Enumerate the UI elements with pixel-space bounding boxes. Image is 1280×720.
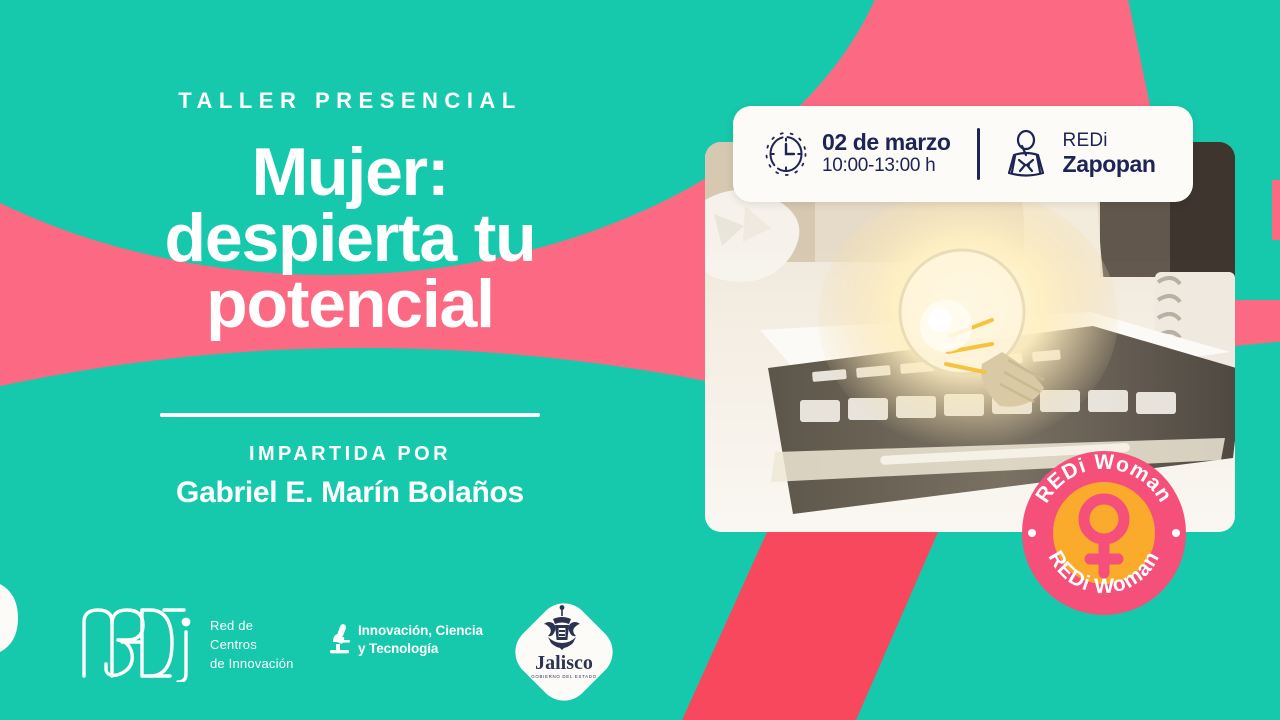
logo-row: Red de Centros de Innovación Innovación,… xyxy=(0,590,700,720)
promo-poster: TALLER PRESENCIAL Mujer: despierta tu po… xyxy=(0,0,1280,720)
title-line-1: Mujer: xyxy=(0,140,700,206)
event-info-card: 02 de marzo 10:00-13:00 h REDi xyxy=(733,106,1193,202)
redi-tagline-line-2: Centros xyxy=(210,636,294,655)
location-brand: REDi xyxy=(1063,130,1156,152)
title-line-2: despierta tu xyxy=(0,206,700,272)
location-block: REDi Zapopan xyxy=(980,129,1156,179)
jalisco-subtitle: GOBIERNO DEL ESTADO xyxy=(531,674,597,679)
ict-line-2: y Tecnología xyxy=(358,640,483,658)
jalisco-wordmark: Jalisco xyxy=(535,652,593,674)
date-time-block: 02 de marzo 10:00-13:00 h xyxy=(733,130,951,179)
jalisco-logo: Jalisco GOBIERNO DEL ESTADO xyxy=(512,593,616,711)
redi-logo-tagline: Red de Centros de Innovación xyxy=(210,617,294,674)
event-time: 10:00-13:00 h xyxy=(822,155,951,178)
presenter-label: IMPARTIDA POR xyxy=(0,443,700,466)
date-time-text: 02 de marzo 10:00-13:00 h xyxy=(822,130,951,179)
redi-woman-badge: REDi Woman REDi Woman xyxy=(1018,447,1190,619)
page-title: Mujer: despierta tu potencial xyxy=(0,140,700,338)
ict-logo-text: Innovación, Ciencia y Tecnología xyxy=(358,622,483,657)
location-text: REDi Zapopan xyxy=(1063,130,1156,178)
event-date: 02 de marzo xyxy=(822,130,951,156)
title-line-3: potencial xyxy=(0,272,700,338)
redi-tagline-line-1: Red de xyxy=(210,617,294,636)
kicker-label: TALLER PRESENCIAL xyxy=(0,88,700,114)
clock-icon xyxy=(763,130,809,178)
redi-tagline-line-3: de Innovación xyxy=(210,655,294,674)
presenter-name: Gabriel E. Marín Bolaños xyxy=(0,476,700,510)
title-underline xyxy=(160,413,540,417)
location-name: Zapopan xyxy=(1063,152,1156,178)
microscope-icon xyxy=(327,622,353,656)
redi-logo xyxy=(78,602,198,682)
person-with-map-icon xyxy=(1002,129,1050,179)
ict-line-1: Innovación, Ciencia xyxy=(358,622,483,640)
